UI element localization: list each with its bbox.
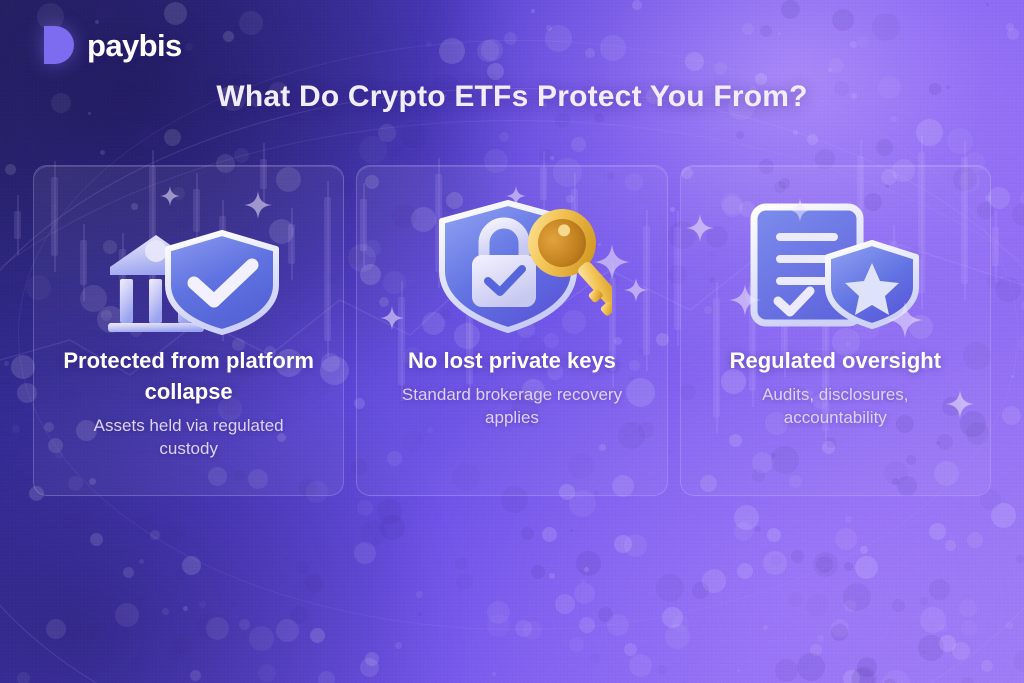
bank-shield-check-icon [94,190,284,340]
brand-logo[interactable]: paybis [44,26,182,64]
brand-name: paybis [87,30,182,61]
benefit-card-title: Protected from platform collapse [59,346,319,408]
benefit-card-subtitle: Audits, disclosures, accountability [710,383,960,430]
benefit-card-private-keys[interactable]: No lost private keys Standard brokerage … [356,165,667,496]
benefit-card-title: Regulated oversight [730,346,941,377]
paybis-halfcircle-icon [44,26,74,64]
benefit-card-list: Protected from platform collapse Assets … [33,165,991,496]
document-shield-star-icon [740,190,930,340]
benefit-card-title: No lost private keys [408,346,616,377]
page-title: What Do Crypto ETFs Protect You From? [0,80,1024,114]
infographic-canvas: paybis What Do Crypto ETFs Protect You F… [0,0,1024,683]
benefit-card-subtitle: Standard brokerage recovery applies [387,383,637,430]
shield-lock-key-icon [412,190,612,340]
benefit-card-platform-collapse[interactable]: Protected from platform collapse Assets … [33,165,344,496]
benefit-card-regulated-oversight[interactable]: Regulated oversight Audits, disclosures,… [680,165,991,496]
benefit-card-subtitle: Assets held via regulated custody [64,414,314,461]
